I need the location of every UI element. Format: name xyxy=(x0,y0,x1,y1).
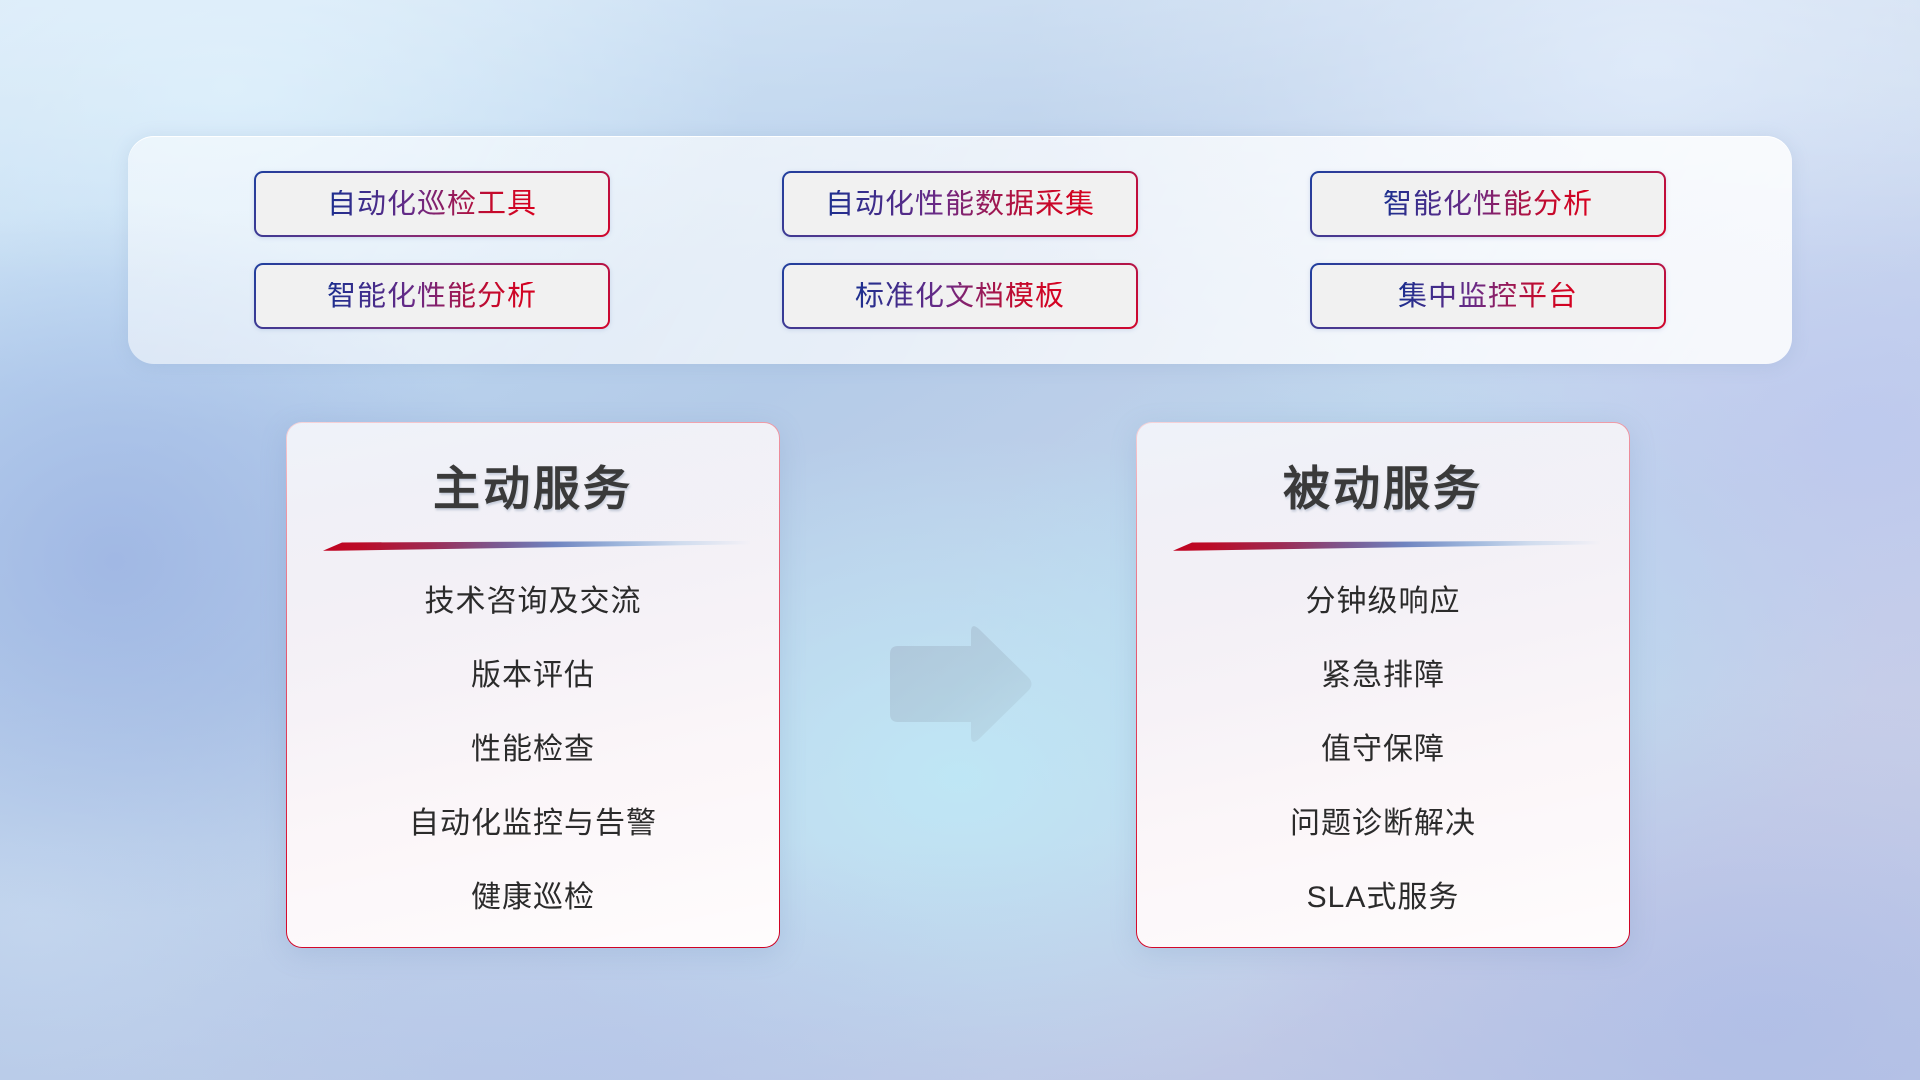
card-title: 主动服务 xyxy=(287,463,779,515)
service-list-item: 自动化监控与告警 xyxy=(287,809,779,839)
capability-tag-label: 智能化性能分析 xyxy=(327,282,537,311)
service-card-reactive[interactable]: 被动服务 分钟级响应 紧急排障 值守保障 问题诊断解决 SLA式服务 xyxy=(1136,422,1630,948)
service-list-item: 值守保障 xyxy=(1137,735,1629,765)
capability-tag[interactable]: 自动化巡检工具 xyxy=(254,171,610,237)
capability-tags-panel: 自动化巡检工具 自动化性能数据采集 智能化性能分析 智能化性能分析 标准化文档模… xyxy=(128,136,1792,364)
service-item-list: 技术咨询及交流 版本评估 性能检查 自动化监控与告警 健康巡检 xyxy=(287,587,779,913)
card-divider-bar xyxy=(316,541,750,551)
service-list-item: 技术咨询及交流 xyxy=(287,587,779,617)
capability-tag-inner: 智能化性能分析 xyxy=(256,265,608,327)
capability-tag-label: 智能化性能分析 xyxy=(1383,190,1593,219)
card-divider-bar xyxy=(1166,541,1600,551)
flow-connector xyxy=(876,620,1036,750)
capability-tag-inner: 集中监控平台 xyxy=(1312,265,1664,327)
capability-tag-inner: 智能化性能分析 xyxy=(1312,173,1664,235)
service-list-item: 紧急排障 xyxy=(1137,661,1629,691)
service-list-item: 分钟级响应 xyxy=(1137,587,1629,617)
capability-tag[interactable]: 智能化性能分析 xyxy=(254,263,610,329)
service-list-item: 健康巡检 xyxy=(287,883,779,913)
capability-tag-label: 标准化文档模板 xyxy=(855,282,1065,311)
slide-canvas: 自动化巡检工具 自动化性能数据采集 智能化性能分析 智能化性能分析 标准化文档模… xyxy=(0,0,1920,1080)
capability-tag[interactable]: 标准化文档模板 xyxy=(782,263,1138,329)
capability-tag[interactable]: 自动化性能数据采集 xyxy=(782,171,1138,237)
capability-tag-label: 自动化性能数据采集 xyxy=(825,190,1095,219)
capability-tag-inner: 标准化文档模板 xyxy=(784,265,1136,327)
service-list-item: 性能检查 xyxy=(287,735,779,765)
service-card-proactive[interactable]: 主动服务 技术咨询及交流 版本评估 性能检查 自动化监控与告警 健康巡检 xyxy=(286,422,780,948)
card-divider xyxy=(316,541,750,553)
card-title: 被动服务 xyxy=(1137,463,1629,515)
capability-tag-inner: 自动化性能数据采集 xyxy=(784,173,1136,235)
capability-tag[interactable]: 智能化性能分析 xyxy=(1310,171,1666,237)
arrow-right-icon xyxy=(876,620,1036,750)
service-list-item: 版本评估 xyxy=(287,661,779,691)
capability-tag-label: 集中监控平台 xyxy=(1398,282,1578,311)
service-list-item: 问题诊断解决 xyxy=(1137,809,1629,839)
service-list-item: SLA式服务 xyxy=(1137,883,1629,913)
card-divider xyxy=(1166,541,1600,553)
capability-tag-inner: 自动化巡检工具 xyxy=(256,173,608,235)
capability-tag-label: 自动化巡检工具 xyxy=(327,190,537,219)
capability-tag[interactable]: 集中监控平台 xyxy=(1310,263,1666,329)
service-item-list: 分钟级响应 紧急排障 值守保障 问题诊断解决 SLA式服务 xyxy=(1137,587,1629,913)
